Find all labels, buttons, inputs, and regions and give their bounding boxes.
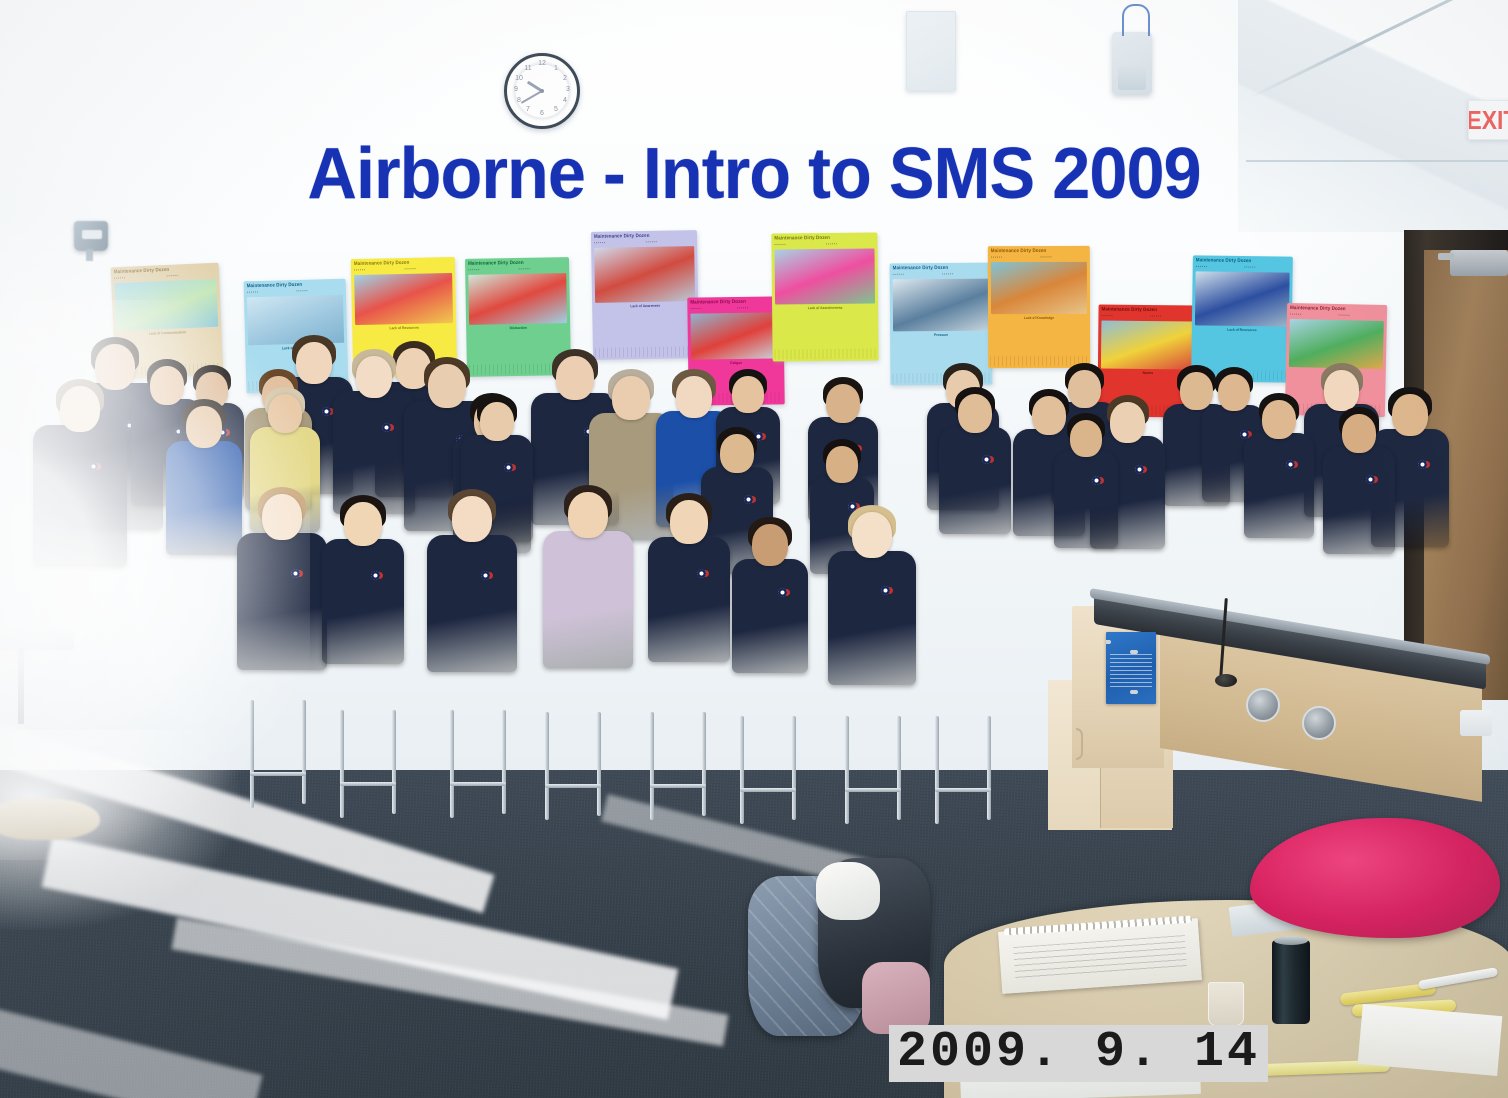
airborne-logo-icon: [697, 569, 706, 578]
side-table: [0, 628, 74, 650]
person-head: [60, 386, 100, 432]
airborne-logo-icon: [481, 571, 490, 580]
security-camera-icon: [74, 221, 108, 251]
chair-leg: [845, 716, 849, 824]
clock-numeral: 3: [563, 86, 573, 93]
chair-leg: [340, 710, 344, 818]
camera-date-stamp: 2009. 9. 14: [889, 1025, 1268, 1082]
person-head: [1070, 420, 1102, 457]
chair-cross-bar: [935, 788, 991, 792]
chair-leg: [897, 716, 901, 820]
poster-illustration: [594, 246, 695, 302]
podium-speaker-grille: [1246, 688, 1280, 722]
door-closer-arm: [1438, 253, 1454, 260]
person-head: [356, 356, 392, 398]
chair-leg: [740, 716, 744, 824]
poster-footer: Lack of Assertiveness: [779, 305, 871, 311]
door-closer-hardware: [1450, 250, 1508, 276]
person-head: [556, 356, 594, 400]
person-head: [676, 376, 712, 418]
poster-heading: Maintenance Dirty Dozen: [1196, 257, 1281, 265]
person-head: [1262, 400, 1296, 439]
poster-item-list: • • • • • •• • • • • •: [991, 255, 1087, 260]
poster-heading: Maintenance Dirty Dozen: [893, 265, 979, 272]
poster-illustration: [468, 273, 567, 325]
airborne-logo-icon: [1418, 460, 1427, 469]
person-torso: [33, 425, 126, 566]
person-head: [296, 342, 332, 384]
sign-bolt: [1106, 640, 1111, 644]
person-head: [826, 446, 858, 483]
person-head: [852, 512, 892, 558]
person-torso: [543, 531, 633, 667]
poster-item-list: • • • • • •• • • • • •: [690, 306, 780, 312]
person-head: [452, 496, 492, 542]
poster-illustration: [893, 279, 989, 332]
chair-leg: [987, 716, 991, 820]
chair-leg: [545, 712, 549, 820]
chair-cross-bar: [545, 784, 601, 788]
person-torso: [939, 427, 1010, 535]
photograph: 12 1 2 3 4 5 6 7 8 9 10 11 EXIT Maintena…: [0, 0, 1508, 1098]
airborne-logo-icon: [1366, 475, 1375, 484]
poster-illustration: [991, 262, 1087, 314]
person-torso: [1244, 433, 1314, 538]
clock-numeral: 2: [560, 75, 570, 82]
person-head: [186, 406, 222, 448]
white-garment: [816, 862, 880, 920]
poster-item-list: • • • • • •• • • • • •: [354, 266, 452, 273]
person-head: [428, 364, 466, 408]
person-head: [1032, 396, 1066, 435]
podium-blue-sign: [1106, 632, 1156, 704]
person-head: [1392, 394, 1428, 436]
poster-item-list: • • • • • •• • • • • •: [774, 242, 874, 248]
person-head: [1110, 402, 1145, 443]
person-torso: [648, 537, 731, 662]
person-head: [720, 434, 754, 473]
person-head: [568, 492, 608, 538]
person-torso: [828, 551, 917, 685]
person-head: [826, 384, 860, 423]
person-torso: [1323, 447, 1394, 555]
clock-numeral: 1: [551, 65, 561, 72]
clock-numeral: 9: [511, 86, 521, 93]
chair-leg: [792, 716, 796, 820]
chair-cross-bar: [650, 784, 706, 788]
loose-papers: [1358, 1004, 1503, 1076]
poster-item-list: • • • • • •• • • • • •: [893, 272, 989, 277]
airborne-logo-icon: [982, 455, 991, 464]
airborne-logo-icon: [504, 463, 513, 472]
clock-numeral: 4: [560, 97, 570, 104]
clock-numeral: 6: [537, 110, 547, 117]
airborne-logo-icon: [291, 569, 300, 578]
poster-illustration: [114, 279, 218, 331]
person-head: [1342, 414, 1376, 453]
person-head: [958, 394, 992, 433]
airborne-logo-icon: [382, 423, 391, 432]
person-head: [1324, 370, 1359, 411]
wall-clock: 12 1 2 3 4 5 6 7 8 9 10 11: [504, 53, 580, 129]
poster-heading: Maintenance Dirty Dozen: [690, 299, 771, 307]
date-stamp-text: 2009. 9. 14: [897, 1027, 1260, 1078]
person-head: [1068, 370, 1101, 408]
chair-leg: [935, 716, 939, 824]
chair-leg: [302, 700, 306, 804]
chair-leg: [597, 712, 601, 816]
beverage-can: [1272, 940, 1310, 1024]
clock-numeral: 12: [537, 60, 547, 67]
ceiling-ridge: [1246, 160, 1508, 162]
podium-door-handle[interactable]: [1076, 728, 1083, 760]
poster-heading: Maintenance Dirty Dozen: [1102, 307, 1187, 314]
airborne-logo-icon: [371, 571, 380, 580]
person-head: [344, 502, 382, 546]
poster-heading: Maintenance Dirty Dozen: [774, 235, 864, 242]
airborne-logo-icon: [881, 586, 890, 595]
camera-mount: [86, 249, 93, 261]
side-table-leg: [18, 648, 24, 724]
poster-illustration: [775, 249, 876, 305]
chair-leg: [392, 710, 396, 814]
poster-item-list: • • • • • •• • • • • •: [1101, 314, 1195, 320]
sign-bolt: [1130, 690, 1138, 694]
person-head: [268, 394, 302, 433]
person-head: [752, 524, 788, 566]
exit-sign: EXIT: [1468, 100, 1508, 140]
chair-leg: [650, 712, 654, 820]
chair-cross-bar: [250, 772, 306, 776]
person-torso: [166, 441, 241, 555]
person-head: [670, 500, 708, 544]
person-head: [1218, 374, 1250, 411]
microphone-base: [1215, 674, 1237, 687]
poster-illustration: [354, 273, 453, 325]
person-head: [95, 344, 135, 390]
podium-speaker-grille: [1302, 706, 1336, 740]
clock-numeral: 7: [523, 106, 533, 113]
chair-leg: [702, 712, 706, 816]
clock-numeral: 5: [551, 106, 561, 113]
airborne-logo-icon: [322, 407, 331, 416]
poster-footer: Lack of Knowledge: [995, 316, 1083, 321]
person-torso: [333, 391, 414, 514]
chair-cross-bar: [450, 782, 506, 786]
wall-speaker-panel: [906, 11, 956, 91]
airborne-logo-icon: [744, 495, 753, 504]
plastic-cup: [1208, 982, 1244, 1026]
airborne-logo-icon: [1092, 476, 1101, 485]
person-head: [150, 366, 184, 405]
chair-leg: [450, 710, 454, 818]
clock-numeral: 11: [523, 65, 533, 72]
person-head: [1180, 372, 1213, 410]
person-torso: [322, 539, 405, 664]
poster-heading: Maintenance Dirty Dozen: [991, 248, 1077, 255]
airborne-logo-icon: [778, 588, 787, 597]
person-head: [612, 376, 650, 420]
airborne-logo-icon: [89, 462, 98, 471]
clock-center-pin: [540, 89, 544, 93]
person-torso: [732, 559, 807, 673]
person-torso: [1054, 451, 1118, 548]
poster-footer: Lack of Awareness: [599, 303, 691, 309]
poster-item-list: • • • • • •• • • • • •: [1196, 265, 1290, 271]
airborne-logo-icon: [1135, 465, 1144, 474]
lectern-podium: [1040, 588, 1492, 838]
chair-cross-bar: [845, 788, 901, 792]
podium-right-fitting: [1460, 710, 1492, 736]
airborne-logo-icon: [1286, 460, 1295, 469]
person-torso: [237, 533, 327, 669]
projector-cable: [1122, 4, 1150, 36]
floor-mat: [0, 798, 100, 840]
person-head: [262, 494, 302, 540]
person-head: [732, 376, 764, 413]
chair-cross-bar: [340, 782, 396, 786]
chair-cross-bar: [740, 788, 796, 792]
chair-leg: [250, 700, 254, 808]
poster-item-list: • • • • • •• • • • • •: [1290, 312, 1384, 319]
chair-leg: [502, 710, 506, 814]
exit-sign-label: EXIT: [1468, 105, 1508, 136]
clock-numeral: 10: [514, 75, 524, 82]
poster-item-list: • • • • • •• • • • • •: [468, 267, 566, 274]
poster-item-list: • • • • • •• • • • • •: [594, 240, 694, 247]
person-torso: [427, 535, 517, 671]
ceiling-projector: [1112, 32, 1152, 94]
poster-illustration: [1195, 272, 1290, 327]
sign-bolt: [1130, 650, 1138, 654]
person-head: [480, 402, 514, 441]
